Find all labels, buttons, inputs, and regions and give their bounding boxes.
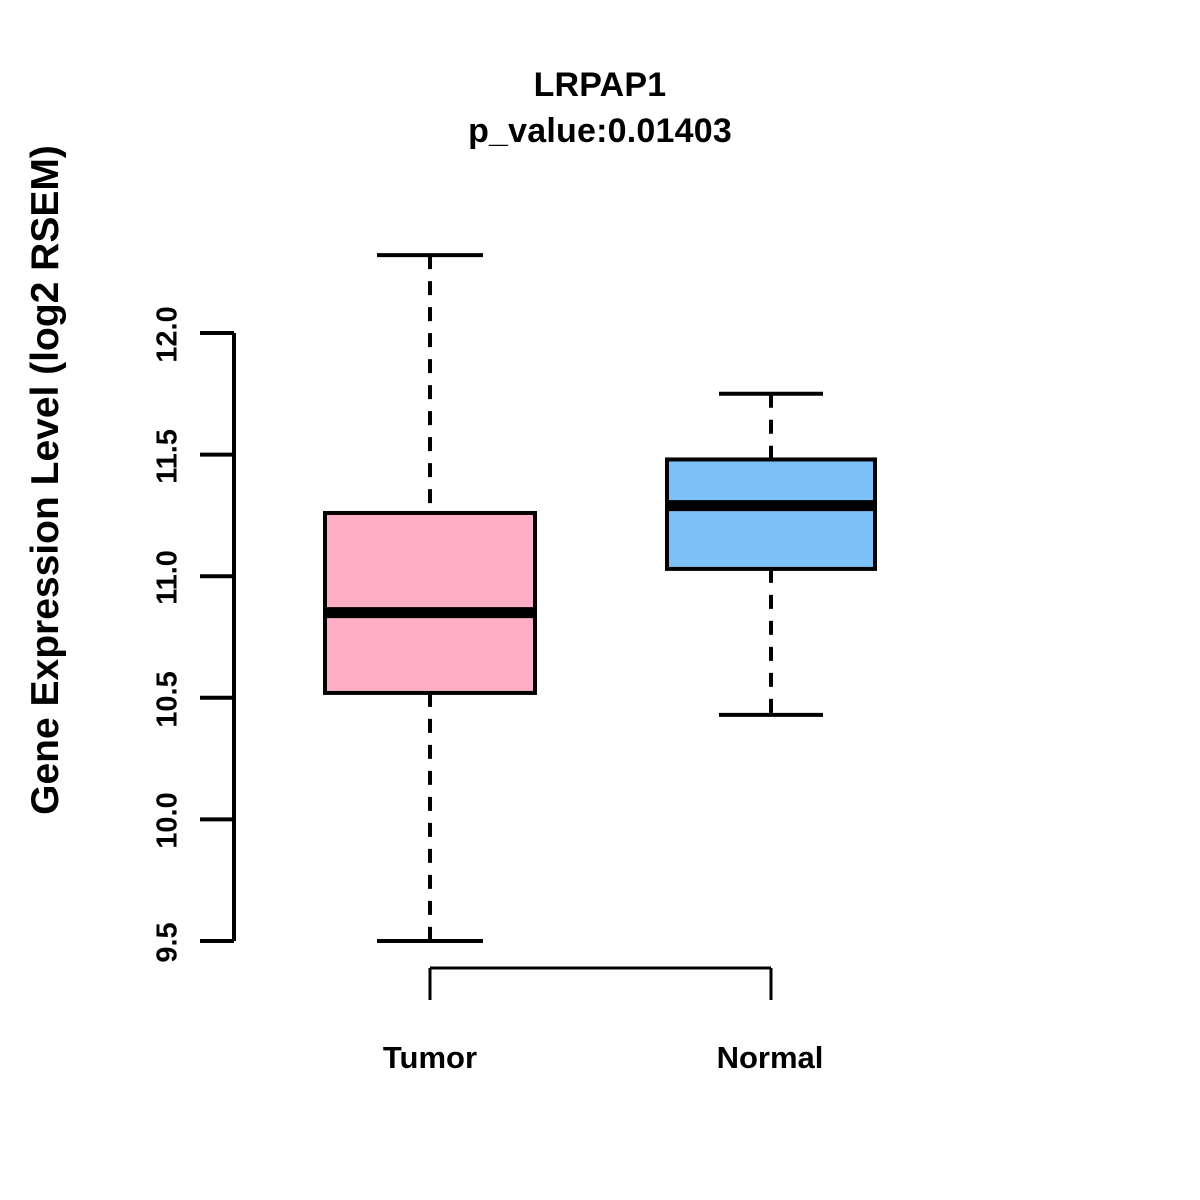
box-normal: [665, 394, 877, 715]
chart-canvas: LRPAP1 p_value:0.01403 Gene Expression L…: [0, 0, 1200, 1200]
box-tumor: [323, 255, 537, 941]
y-axis: [200, 333, 234, 941]
box-rect-tumor: [325, 513, 535, 693]
box-rect-normal: [667, 459, 875, 568]
x-axis-bracket: [430, 968, 771, 1000]
box-series: [323, 255, 877, 941]
boxplot-graphic: [0, 0, 1200, 1200]
